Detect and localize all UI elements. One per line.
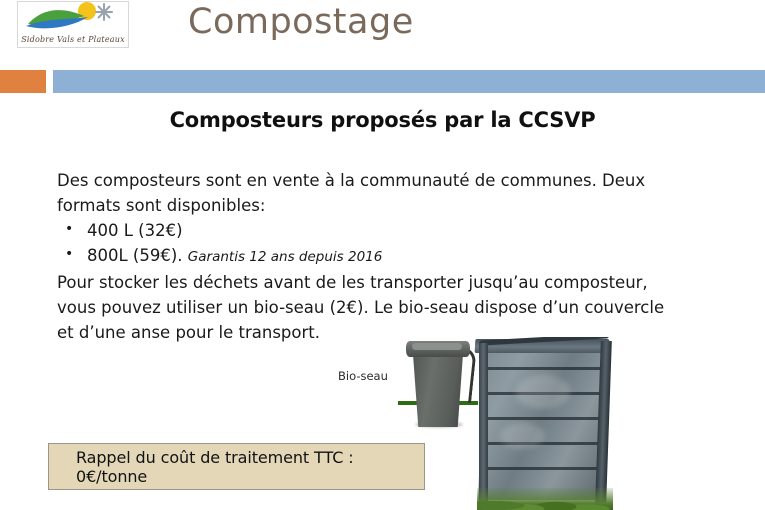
format-label: 800L (59€). xyxy=(87,246,183,265)
accent-bar-blue xyxy=(53,70,765,93)
composteur-slat xyxy=(481,417,605,420)
composteur-texture xyxy=(516,375,571,409)
format-label: 400 L (32€) xyxy=(87,221,183,240)
bioseau-lid-highlight xyxy=(412,343,462,350)
composteur-slat xyxy=(480,442,604,445)
composteur-grass xyxy=(477,488,613,510)
slide-canvas: Sidobre Vals et Plateaux Compostage Comp… xyxy=(0,0,765,510)
composteur-texture xyxy=(500,423,545,449)
logo-caption: Sidobre Vals et Plateaux xyxy=(18,35,128,44)
snowflake-icon xyxy=(96,4,112,20)
formats-list: 400 L (32€) 800L (59€). Garantis 12 ans … xyxy=(57,218,682,270)
cost-callout-box: Rappel du coût de traitement TTC : 0€/to… xyxy=(48,443,425,490)
section-title: Composteurs proposés par la CCSVP xyxy=(0,108,765,132)
composteur-post-left xyxy=(479,343,488,503)
page-title: Compostage xyxy=(188,2,414,42)
body-content: Des composteurs sont en vente à la commu… xyxy=(57,168,682,345)
bioseau-image xyxy=(405,335,477,430)
format-note: Garantis 12 ans depuis 2016 xyxy=(188,249,383,265)
logo: Sidobre Vals et Plateaux xyxy=(17,1,129,48)
list-item: 800L (59€). Garantis 12 ans depuis 2016 xyxy=(57,243,682,270)
composteur-slat xyxy=(479,467,603,470)
outro-paragraph: Pour stocker les déchets avant de les tr… xyxy=(57,270,682,345)
composteur-slat xyxy=(483,367,607,370)
composteur-body xyxy=(478,345,608,500)
accent-bar-orange xyxy=(0,70,46,93)
logo-artwork xyxy=(18,2,128,32)
bioseau-caption: Bio-seau xyxy=(338,369,388,383)
composteur-image xyxy=(473,337,613,510)
list-item: 400 L (32€) xyxy=(57,218,682,243)
logo-graphic xyxy=(18,2,128,32)
intro-paragraph: Des composteurs sont en vente à la commu… xyxy=(57,168,682,218)
cost-callout-text: Rappel du coût de traitement TTC : 0€/to… xyxy=(49,448,424,486)
